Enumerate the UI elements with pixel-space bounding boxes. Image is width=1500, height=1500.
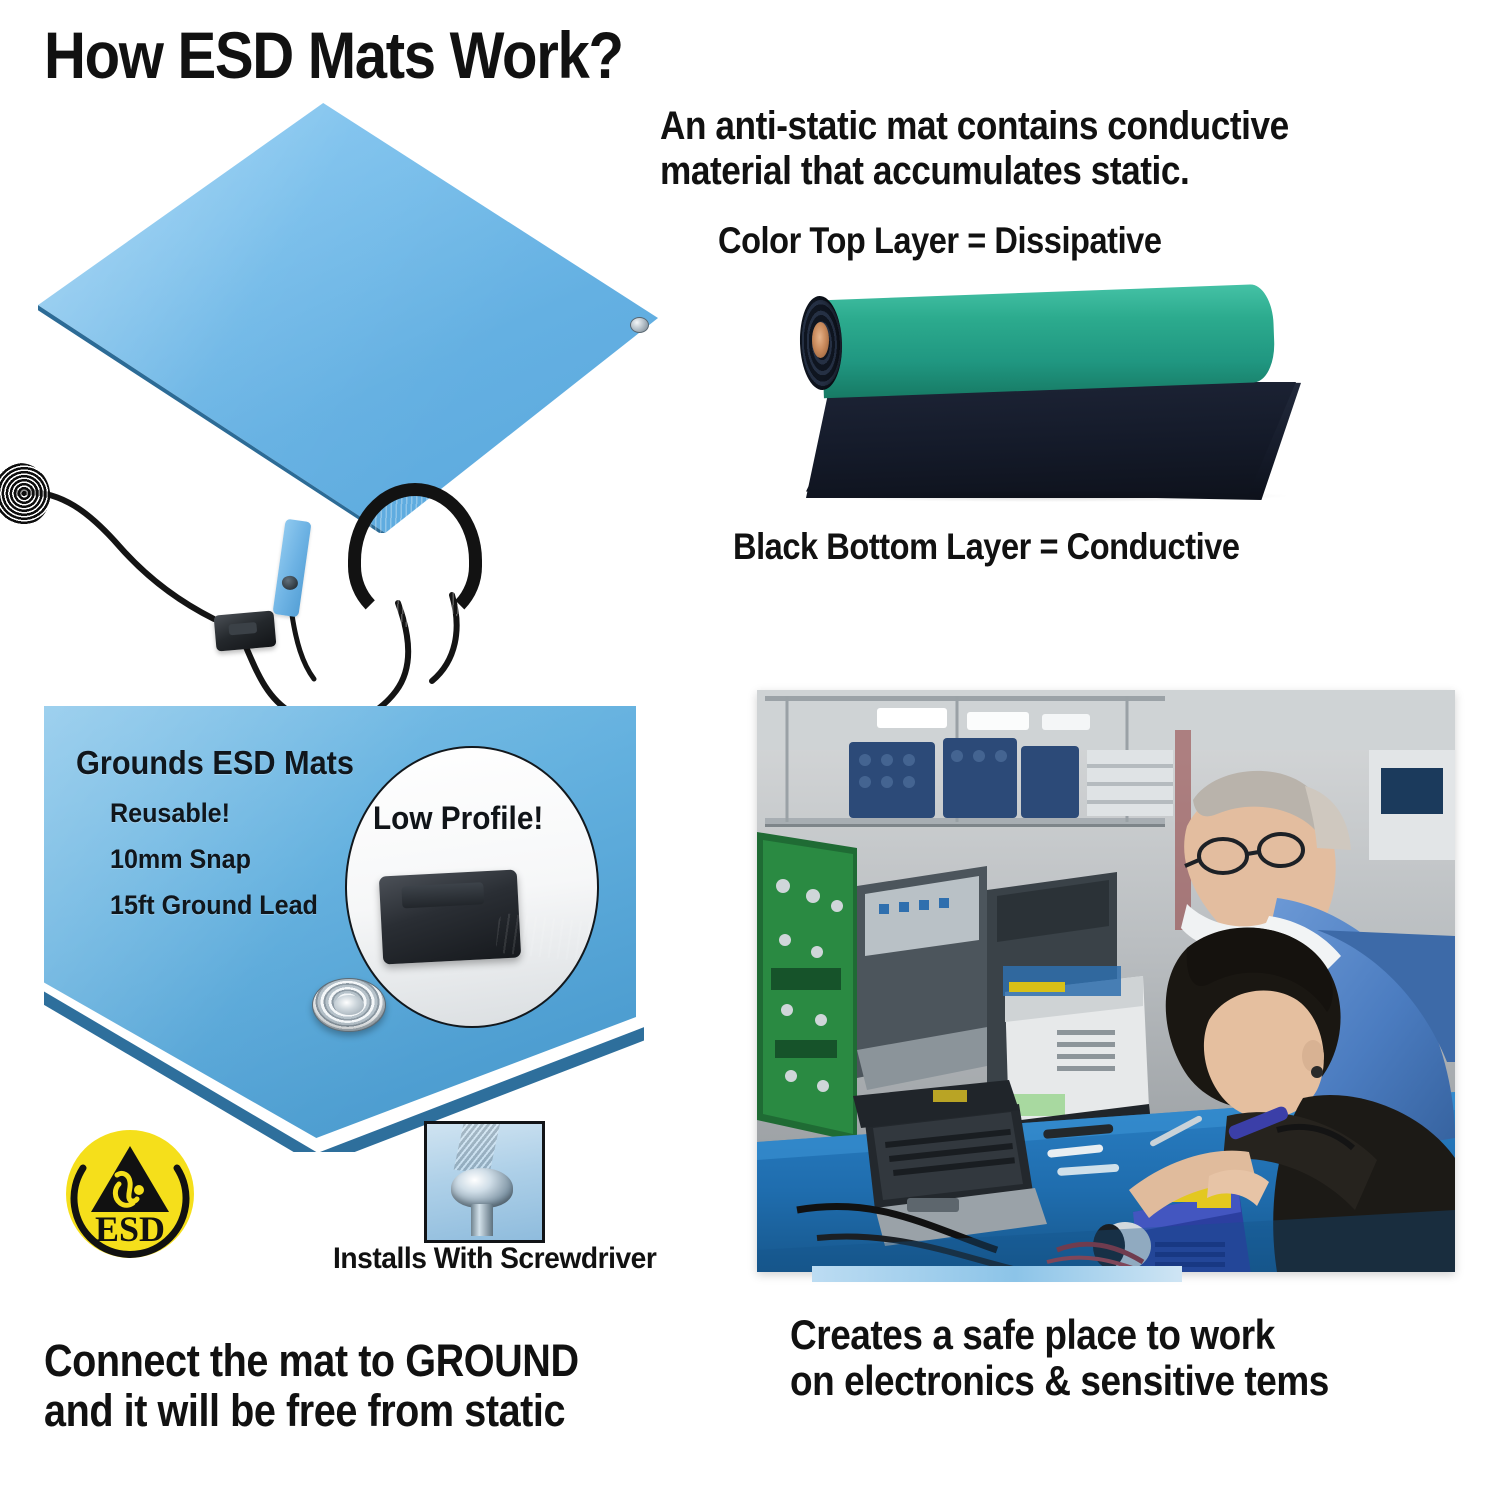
esd-mat-roll-photo [778, 278, 1323, 513]
low-profile-inset: Low Profile! [345, 746, 599, 1028]
roll-shadow [816, 490, 1286, 502]
blue-mat-photo [0, 95, 700, 655]
workshop-photo [757, 690, 1455, 1272]
panel-bullet-reusable: Reusable! [110, 798, 230, 829]
safe-caption: Creates a safe place to work on electron… [790, 1312, 1329, 1404]
panel-bullet-snap: 10mm Snap [110, 844, 251, 875]
roll-green-top-layer [820, 284, 1275, 398]
screwdriver-inset [424, 1121, 545, 1243]
snap-screw-head-icon [451, 1168, 513, 1208]
roll-core-icon [812, 322, 829, 358]
infographic-page: How ESD Mats Work? An anti-static mat co… [0, 0, 1500, 1500]
ground-cord-connector [214, 610, 277, 651]
roll-black-underside [806, 382, 1296, 498]
ground-caption: Connect the mat to GROUND and it will be… [44, 1336, 579, 1435]
page-title: How ESD Mats Work? [44, 22, 623, 89]
intro-text: An anti-static mat contains conductive m… [660, 104, 1289, 194]
bottom-layer-caption: Black Bottom Layer = Conductive [733, 528, 1240, 566]
screwdriver-blade-icon [454, 1121, 501, 1173]
mat-snap-closeup-icon [312, 978, 386, 1032]
snap-screw-shank [471, 1204, 493, 1236]
coiled-cord [348, 483, 482, 627]
installs-caption: Installs With Screwdriver [333, 1244, 656, 1275]
panel-heading: Grounds ESD Mats [76, 744, 354, 782]
workshop-scene [757, 690, 1455, 1272]
panel-bullet-ground-lead: 15ft Ground Lead [110, 890, 318, 921]
svg-text:ESD: ESD [95, 1209, 165, 1249]
esd-logo: ESD [63, 1128, 198, 1261]
top-layer-caption: Color Top Layer = Dissipative [718, 222, 1162, 260]
workshop-bench-strip [812, 1266, 1182, 1282]
